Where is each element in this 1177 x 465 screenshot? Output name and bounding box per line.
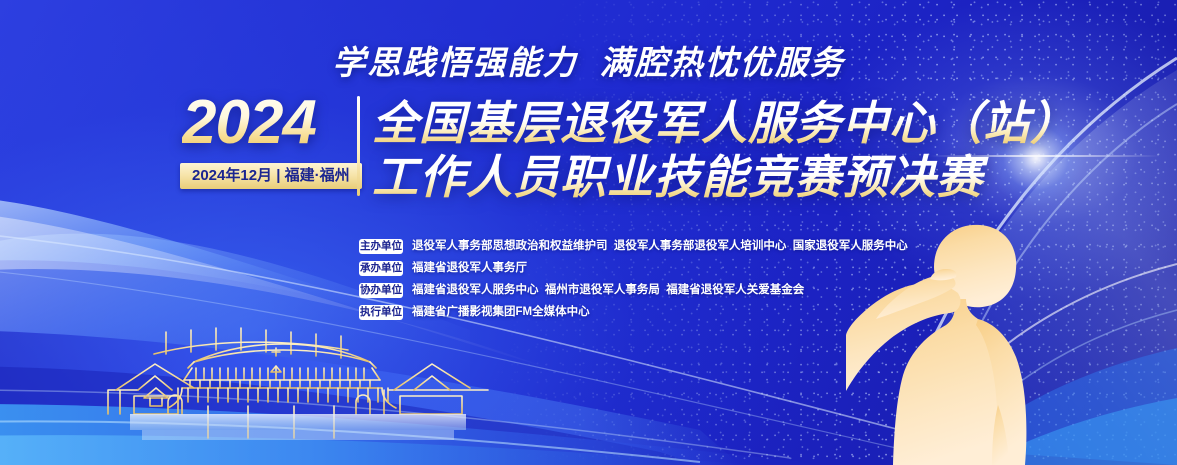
- title-line-1: 全国基层退役军人服务中心（站）: [372, 96, 1077, 150]
- banner-slogan: 学思践悟强能力 满腔热忱优服务: [0, 46, 1177, 79]
- organizer-tag: 主办单位: [359, 239, 403, 254]
- organizer-row-organizer: 承办单位 福建省退役军人事务厅: [359, 258, 908, 279]
- event-banner: 学思践悟强能力 满腔热忱优服务 2024 2024年12月 | 福建·福州 全国…: [0, 0, 1177, 465]
- date-location-badge: 2024年12月 | 福建·福州: [180, 163, 362, 189]
- event-year: 2024: [182, 92, 316, 154]
- gutian-hall-illustration: [98, 318, 498, 465]
- organizer-names: 福建省退役军人事务厅: [412, 261, 527, 276]
- organizer-row-host: 主办单位 退役军人事务部思想政治和权益维护司 退役军人事务部退役军人培训中心 国…: [359, 236, 908, 257]
- title-line-2: 工作人员职业技能竞赛预决赛: [372, 150, 1077, 204]
- saluting-soldier-figure: [846, 215, 1177, 465]
- organizer-tag: 协办单位: [359, 283, 403, 298]
- organizer-row-co-organizer: 协办单位 福建省退役军人服务中心 福州市退役军人事务局 福建省退役军人关爱基金会: [359, 280, 908, 301]
- title-divider: [357, 96, 360, 196]
- organizer-tag: 承办单位: [359, 261, 403, 276]
- organizer-list: 主办单位 退役军人事务部思想政治和权益维护司 退役军人事务部退役军人培训中心 国…: [359, 236, 908, 324]
- page-title: 全国基层退役军人服务中心（站） 工作人员职业技能竞赛预决赛: [372, 96, 1077, 204]
- organizer-names: 福建省退役军人服务中心 福州市退役军人事务局 福建省退役军人关爱基金会: [412, 283, 804, 298]
- organizer-names: 退役军人事务部思想政治和权益维护司 退役军人事务部退役军人培训中心 国家退役军人…: [412, 239, 908, 254]
